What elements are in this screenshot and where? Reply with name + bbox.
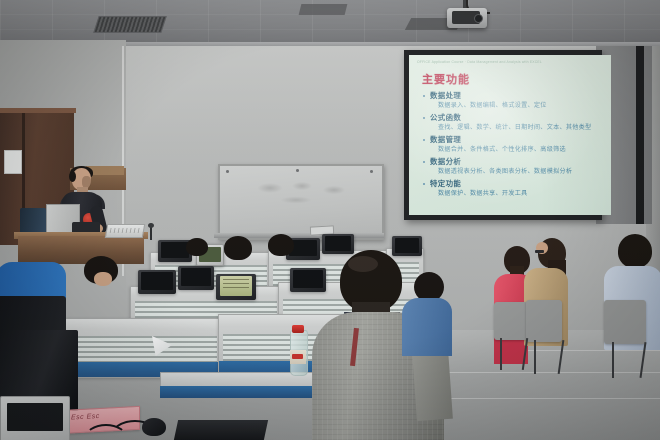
monitor xyxy=(138,270,176,294)
chair-back xyxy=(494,302,528,340)
podium xyxy=(18,236,144,264)
slide-section-body: 数据合并、条件格式、个性化排序、高级筛选 xyxy=(423,145,603,155)
air-vent-secondary-icon xyxy=(299,4,348,15)
slide-section-body: 查找、逻辑、数学、统计、日期时间、文本、其他类型 xyxy=(423,123,603,133)
podium-microphone-icon xyxy=(150,226,152,240)
classroom-photo: OFFICE Application Course · Data Managem… xyxy=(0,0,660,440)
slide-section: 数据分析 数据透视表分析、各类图表分析、数据模拟分析 xyxy=(423,157,603,177)
whiteboard xyxy=(218,164,384,240)
whiteboard-erased-writing xyxy=(256,180,352,206)
student-head xyxy=(186,238,208,256)
crt-screen xyxy=(7,403,63,431)
slide-section-body: 数据录入、数据编辑、格式设置、定位 xyxy=(423,101,603,111)
monitor xyxy=(178,266,214,290)
cabinet-top xyxy=(0,108,76,113)
slide-section: 数据处理 数据录入、数据编辑、格式设置、定位 xyxy=(423,91,603,111)
slide-section-heading: 数据处理 xyxy=(423,91,603,101)
slide-section-heading: 数据管理 xyxy=(423,135,603,145)
student-head xyxy=(224,236,252,260)
slide-header-text: OFFICE Application Course · Data Managem… xyxy=(417,60,603,67)
bottle-cap xyxy=(292,325,304,333)
person-head xyxy=(618,234,652,268)
screen-frame-band xyxy=(636,46,644,224)
wall-poster xyxy=(4,150,22,174)
foreground-student-hair-highlight xyxy=(348,256,378,272)
slide-section: 数据管理 数据合并、条件格式、个性化排序、高级筛选 xyxy=(423,135,603,155)
slide-section-body: 数据保护、数据共享、开发工具 xyxy=(423,189,603,199)
slide-section-body: 数据透视表分析、各类图表分析、数据模拟分析 xyxy=(423,167,603,177)
slide-section-heading: 特定功能 xyxy=(423,179,603,189)
slide-section: 公式函数 查找、逻辑、数学、统计、日期时间、文本、其他类型 xyxy=(423,113,603,133)
slide-title: 主要功能 xyxy=(422,71,470,87)
student-face xyxy=(94,272,112,286)
floor-tile-line xyxy=(440,398,660,399)
student-head xyxy=(268,234,294,256)
computer-mouse xyxy=(142,418,166,436)
projection-screen: OFFICE Application Course · Data Managem… xyxy=(409,55,611,215)
student-shirt xyxy=(402,298,452,356)
slide-section-heading: 公式函数 xyxy=(423,113,603,123)
air-vent-icon xyxy=(93,16,167,33)
bottle-label xyxy=(290,350,306,364)
chair-back xyxy=(526,300,562,342)
floor-tile-line xyxy=(430,372,660,373)
foreground-keyboard xyxy=(174,420,268,440)
cubicle-divider xyxy=(60,318,222,378)
chair-back xyxy=(604,300,646,344)
monitor-lit xyxy=(216,274,256,300)
slide-section: 特定功能 数据保护、数据共享、开发工具 xyxy=(423,179,603,199)
foreground-crt-monitor xyxy=(0,396,70,440)
student-blue-shirt xyxy=(402,272,450,352)
seated-man-blue xyxy=(606,234,660,364)
eyeglasses-icon xyxy=(535,250,544,253)
podium-keyboard xyxy=(105,224,145,238)
slide-section-heading: 数据分析 xyxy=(423,157,603,167)
projector-lens-icon xyxy=(474,14,483,23)
presenter-hair-side xyxy=(69,171,76,182)
slide-body: 数据处理 数据录入、数据编辑、格式设置、定位 公式函数 查找、逻辑、数学、统计、… xyxy=(423,91,603,201)
